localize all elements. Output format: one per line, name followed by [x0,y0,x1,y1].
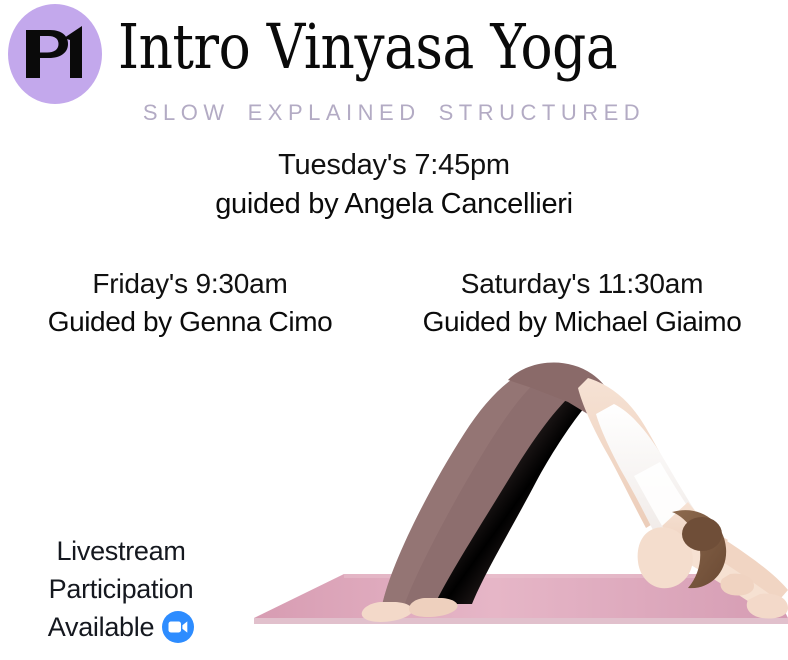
yoga-pose-photo [232,352,788,652]
downward-dog-illustration [232,352,788,652]
friday-class-instructor: Guided by Genna Cimo [0,302,380,342]
tagline-word-slow: SLOW [143,100,230,125]
header: Intro Vinyasa Yoga [0,0,788,96]
livestream-line-3: Available [48,608,154,646]
schedule-column-saturday: Saturday's 11:30am Guided by Michael Gia… [382,266,782,342]
friday-class-time: Friday's 9:30am [0,266,380,302]
yoga-class-flyer: Intro Vinyasa Yoga SLOWEXPLAINEDSTRUCTUR… [0,0,788,660]
primary-class-instructor: guided by Angela Cancellieri [0,184,788,224]
tagline-word-explained: EXPLAINED [248,100,421,125]
primary-class-time: Tuesday's 7:45pm [0,146,788,184]
tagline: SLOWEXPLAINEDSTRUCTURED [0,100,788,126]
tagline-word-structured: STRUCTURED [439,100,646,125]
secondary-schedule: Friday's 9:30am Guided by Genna Cimo Sat… [0,266,788,342]
saturday-class-instructor: Guided by Michael Giaimo [382,302,782,342]
brand-logo [8,4,102,104]
primary-schedule: Tuesday's 7:45pm guided by Angela Cancel… [0,146,788,224]
zoom-video-camera-icon[interactable] [162,611,194,643]
p1-monogram-icon [20,22,90,86]
livestream-note: Livestream Participation Available [16,532,226,646]
page-title: Intro Vinyasa Yoga [118,2,686,92]
livestream-line-2: Participation [16,570,226,608]
hair-knot [682,517,722,551]
saturday-class-time: Saturday's 11:30am [382,266,782,302]
livestream-line-3-row: Available [16,608,226,646]
livestream-line-1: Livestream [16,532,226,570]
schedule-column-friday: Friday's 9:30am Guided by Genna Cimo [0,266,380,342]
